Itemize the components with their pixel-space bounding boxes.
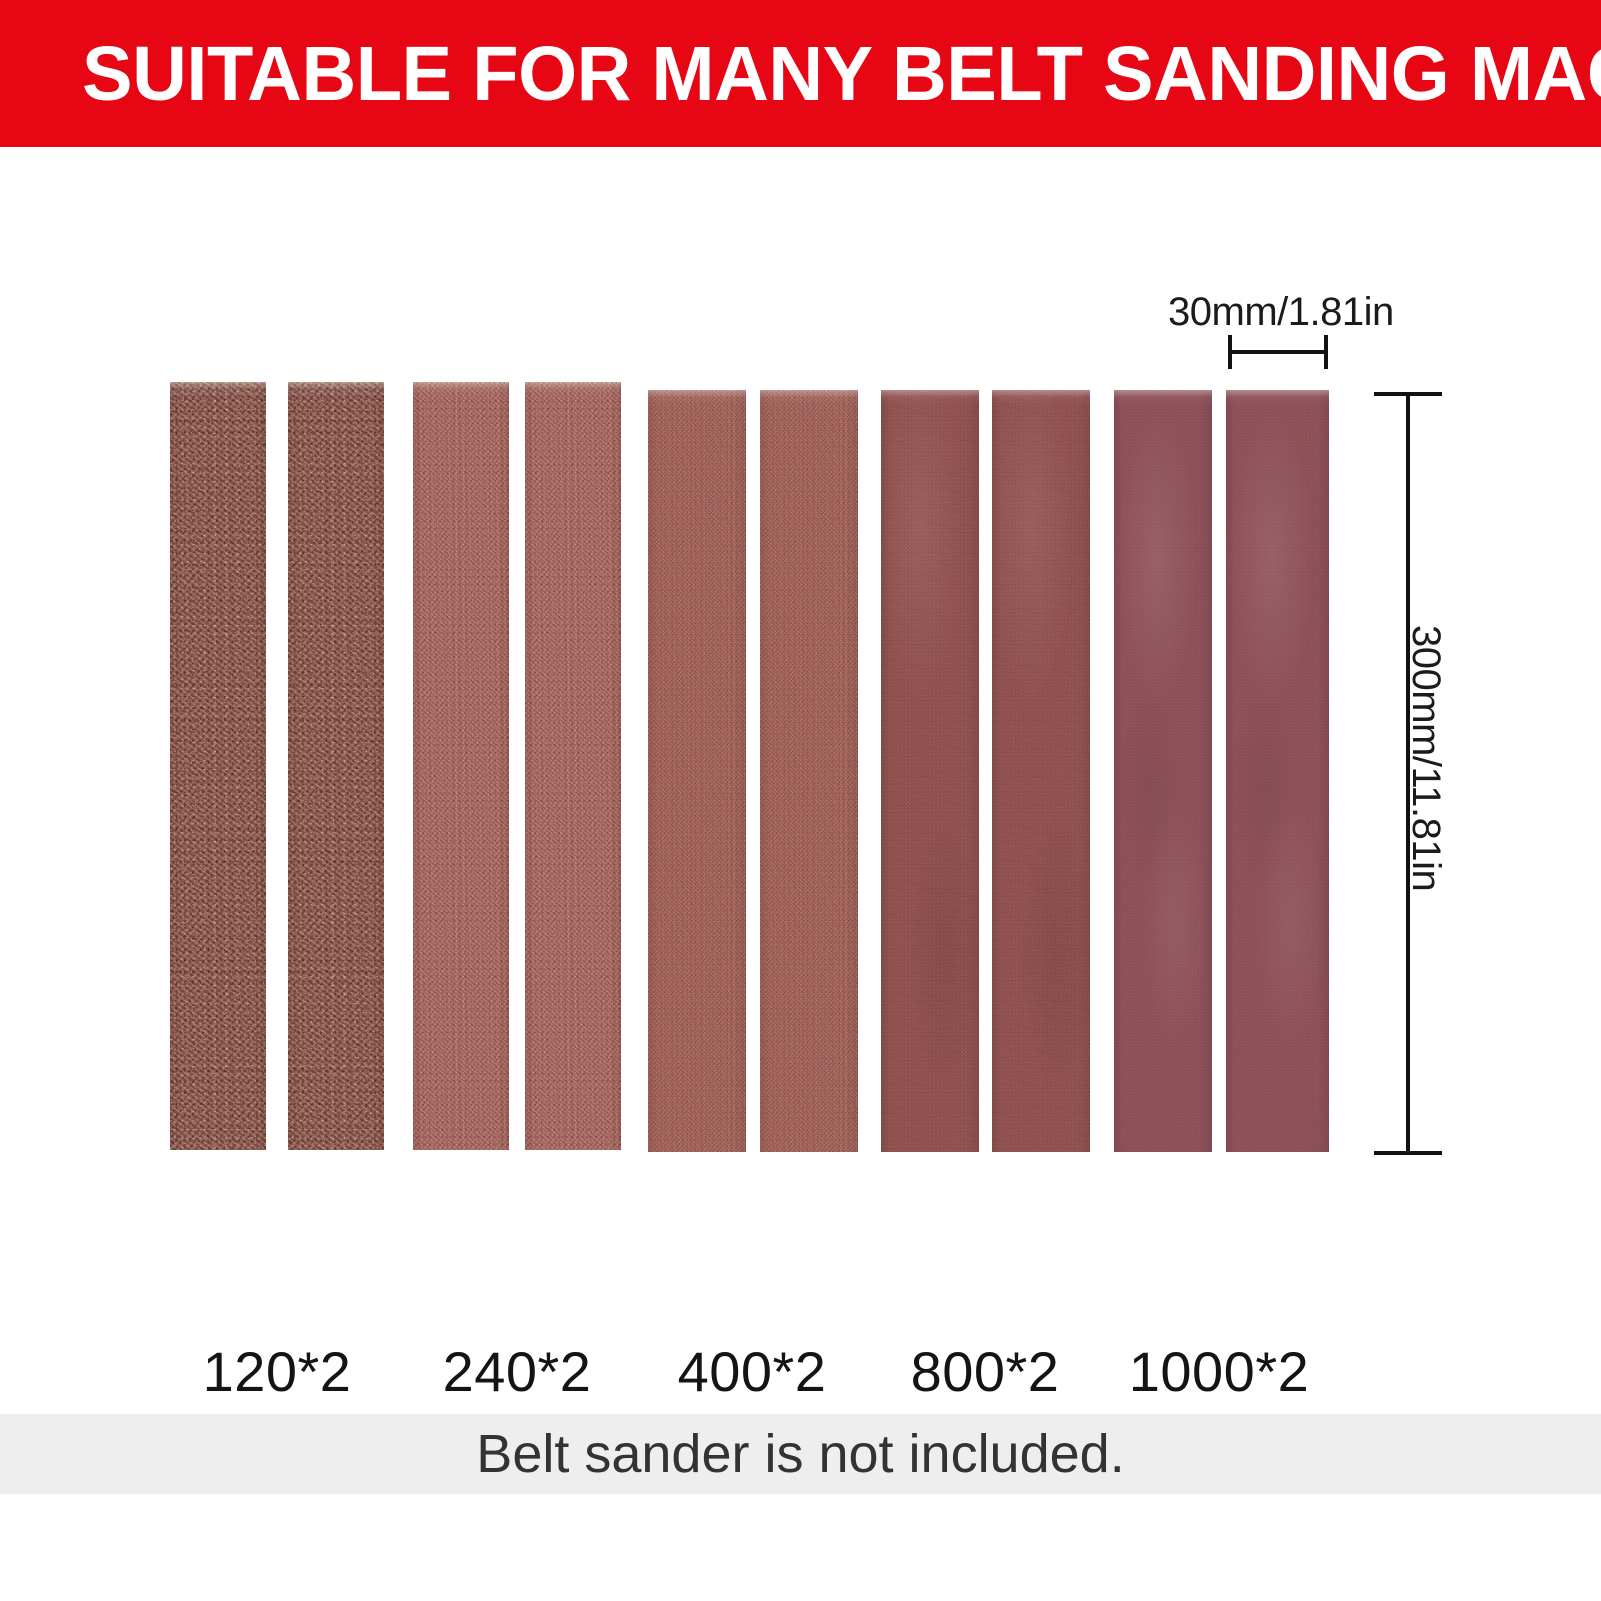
grit-label-1000: 1000*2: [1092, 1339, 1346, 1404]
sanding-belt-strip-800-b: [992, 390, 1090, 1152]
footer-note: Belt sander is not included.: [0, 1414, 1601, 1494]
sanding-belt-strip-240-b: [525, 382, 621, 1150]
sanding-belt-strip-120-b: [288, 382, 384, 1150]
sanding-belt-strip-1000-b: [1226, 390, 1329, 1152]
sanding-belt-strip-1000-a: [1114, 390, 1212, 1152]
length-dimension-cap-top: [1374, 392, 1442, 396]
width-dimension-label: 30mm/1.81in: [1168, 290, 1394, 335]
sanding-belt-strip-240-a: [413, 382, 509, 1150]
sanding-belt-strip-120-a: [170, 382, 266, 1150]
product-illustration-stage: 30mm/1.81in 300mm/11.81in 120*2 240*2 40…: [0, 147, 1601, 1414]
grit-label-800: 800*2: [858, 1339, 1112, 1404]
sanding-belt-strip-800-a: [881, 390, 979, 1152]
width-dimension-tick-left: [1228, 335, 1232, 369]
width-dimension-line: [1228, 350, 1328, 354]
grit-label-120: 120*2: [150, 1339, 404, 1404]
product-infographic: SUITABLE FOR MANY BELT SANDING MACHINE 3…: [0, 0, 1601, 1601]
length-dimension-label: 300mm/11.81in: [1403, 625, 1448, 891]
grit-label-240: 240*2: [390, 1339, 644, 1404]
grit-label-400: 400*2: [625, 1339, 879, 1404]
sanding-belt-strip-400-a: [648, 390, 746, 1152]
header-title: SUITABLE FOR MANY BELT SANDING MACHINE: [82, 24, 1520, 124]
length-dimension-cap-bottom: [1374, 1151, 1442, 1155]
width-dimension-tick-right: [1324, 335, 1328, 369]
sanding-belt-strip-400-b: [760, 390, 858, 1152]
